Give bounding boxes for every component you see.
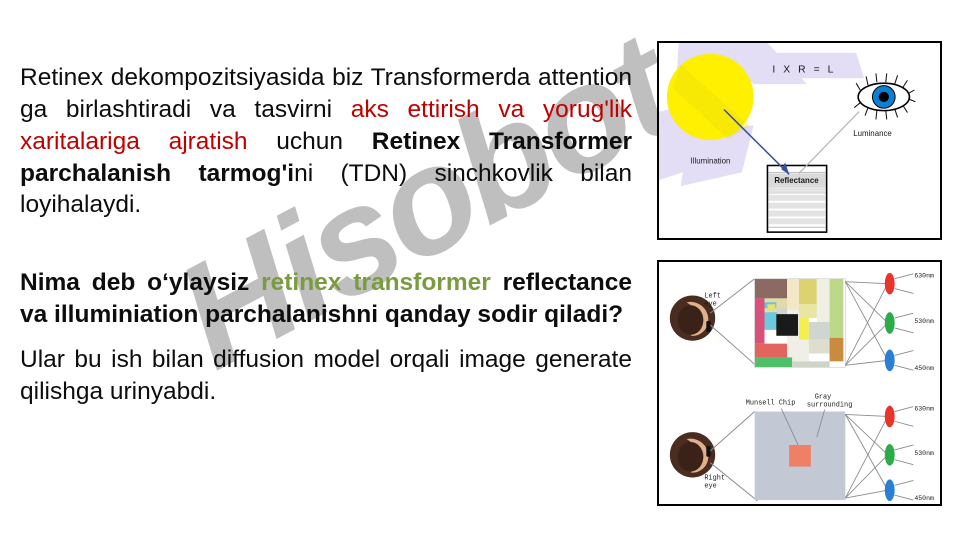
luminance-label: Luminance	[853, 129, 892, 138]
figure-munsell-color-constancy: Left eye 630nm	[657, 260, 942, 506]
figure-bottom-canvas: Left eye 630nm	[659, 262, 940, 504]
slide-text-column: Retinex dekompozitsiyasida biz Transform…	[20, 62, 632, 408]
mondrian-color-array	[755, 279, 846, 368]
cone-blue-top	[885, 350, 914, 372]
mondrian-patch	[817, 279, 830, 322]
p2-segment-green: retinex transformer	[261, 269, 491, 296]
right-eye-label-line2: eye	[704, 482, 716, 490]
wavelength-label-630-top: 630nm	[914, 273, 934, 280]
cone-red-top	[885, 273, 914, 295]
mondrian-patch	[755, 298, 765, 343]
figure-top-canvas: Illumination I X R = L	[659, 43, 940, 238]
wavelength-label-450-bottom: 450nm	[914, 495, 934, 502]
p2-segment-1: Nima deb o‘ylaysiz	[20, 269, 261, 296]
paragraph-two-question: Nima deb o‘ylaysiz retinex transformer r…	[20, 267, 632, 331]
luminance-ray	[799, 112, 859, 174]
mondrian-patch	[755, 357, 792, 367]
right-eye-view-cone	[710, 412, 757, 502]
p1-segment-3: uchun	[248, 128, 372, 155]
mondrian-patch	[755, 344, 788, 358]
mondrian-patches	[755, 279, 844, 368]
mondrian-patch	[764, 312, 777, 330]
wavelength-label-530-top: 530nm	[914, 318, 934, 325]
mondrian-patch	[787, 279, 799, 310]
mondrian-patch	[809, 340, 830, 354]
munsell-chip-label: Munsell Chip	[746, 400, 796, 408]
top-cone-fan-lines	[845, 282, 887, 366]
paragraph-three: Ular bu ish bilan diffusion model orqali…	[20, 344, 632, 408]
wavelength-label-630-bottom: 630nm	[914, 406, 934, 413]
equation-label: I X R = L	[772, 64, 836, 75]
mondrian-patch	[776, 314, 798, 336]
mondrian-patch	[755, 279, 788, 299]
gray-surround-panel	[755, 412, 846, 501]
mondrian-patch	[767, 304, 775, 310]
illumination-label: Illumination	[691, 157, 731, 166]
reflectance-panel: Reflectance	[767, 165, 826, 232]
cone-blue-bottom	[885, 479, 914, 501]
left-eye-label-line2: eye	[704, 300, 716, 308]
reflectance-label: Reflectance	[774, 176, 819, 185]
wavelength-label-450-top: 450nm	[914, 365, 934, 372]
munsell-chip-swatch	[789, 445, 811, 467]
right-eye-label-line1: Right	[704, 474, 725, 482]
mondrian-patch	[792, 361, 829, 367]
paragraph-one: Retinex dekompozitsiyasida biz Transform…	[20, 62, 632, 221]
mondrian-patch	[799, 279, 817, 305]
p3-segment-1: Ular bu ish bilan diffusion model orqali…	[20, 346, 632, 405]
cone-red-bottom	[885, 406, 914, 428]
head-right-eye-icon	[670, 432, 715, 477]
mondrian-patch	[809, 322, 830, 340]
mondrian-patch	[830, 279, 844, 338]
wavelength-label-530-bottom: 530nm	[914, 450, 934, 457]
gray-surrounding-label-line2: surrounding	[807, 402, 852, 410]
cone-green-top	[885, 312, 914, 334]
cone-green-bottom	[885, 444, 914, 466]
mondrian-patch	[799, 304, 817, 318]
bottom-cone-fan-lines	[845, 414, 887, 498]
mondrian-patch	[830, 338, 844, 362]
figure-retinex-equation: Illumination I X R = L	[657, 41, 942, 240]
gray-surrounding-label-line1: Gray	[815, 394, 832, 402]
eye-icon	[854, 73, 915, 119]
left-eye-label-line1: Left	[704, 292, 721, 300]
